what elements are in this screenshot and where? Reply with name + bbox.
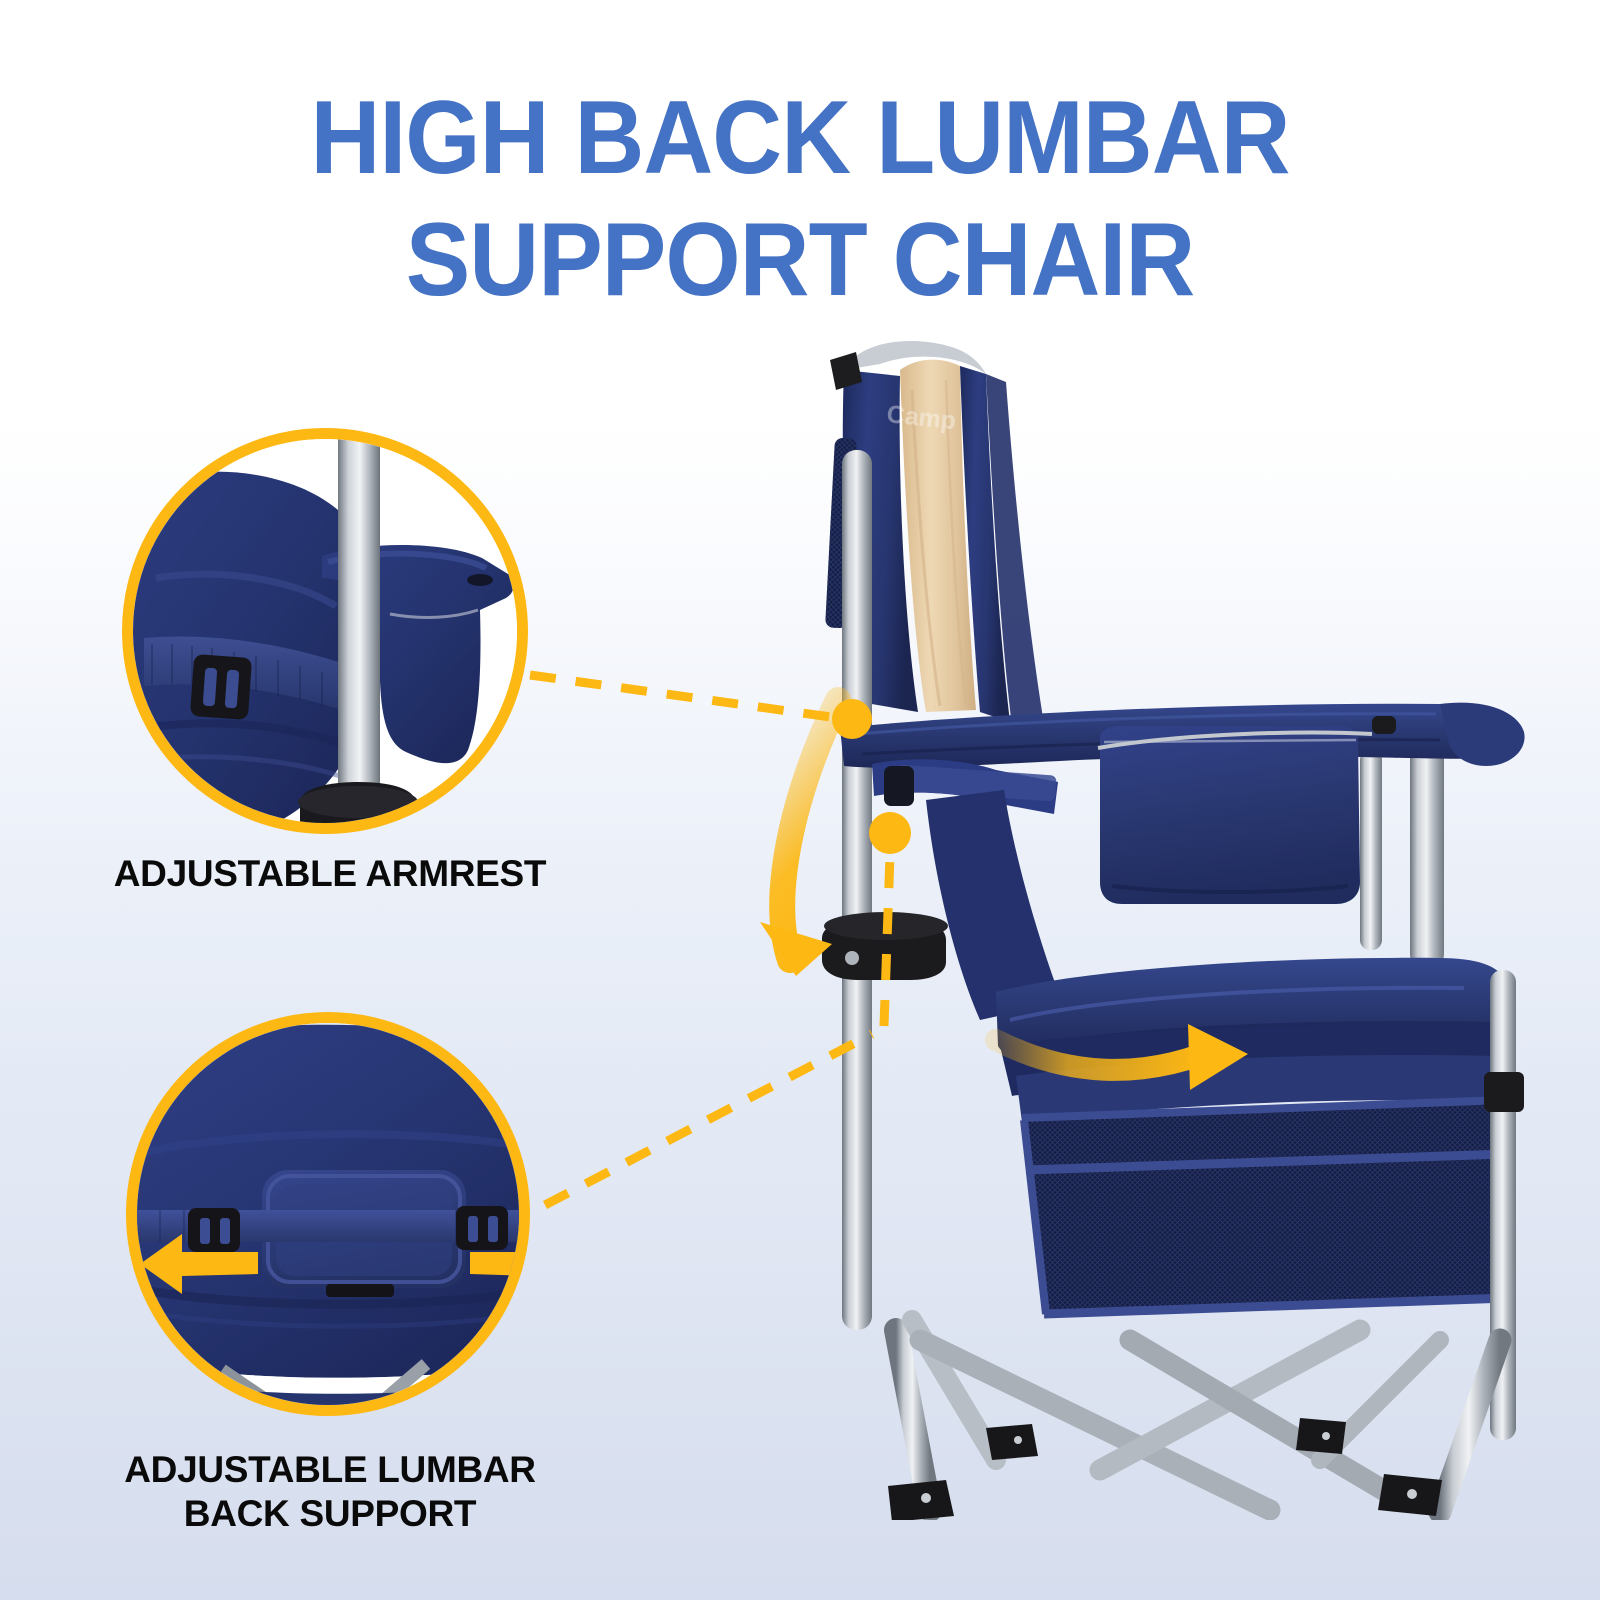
recline-direction-arrow — [760, 700, 838, 976]
lumbar-connector-line — [545, 812, 911, 1205]
annotation-overlay — [0, 0, 1600, 1600]
side-pocket-arrow — [996, 1024, 1248, 1090]
infographic-canvas: HIGH BACK LUMBAR SUPPORT CHAIR — [0, 0, 1600, 1600]
